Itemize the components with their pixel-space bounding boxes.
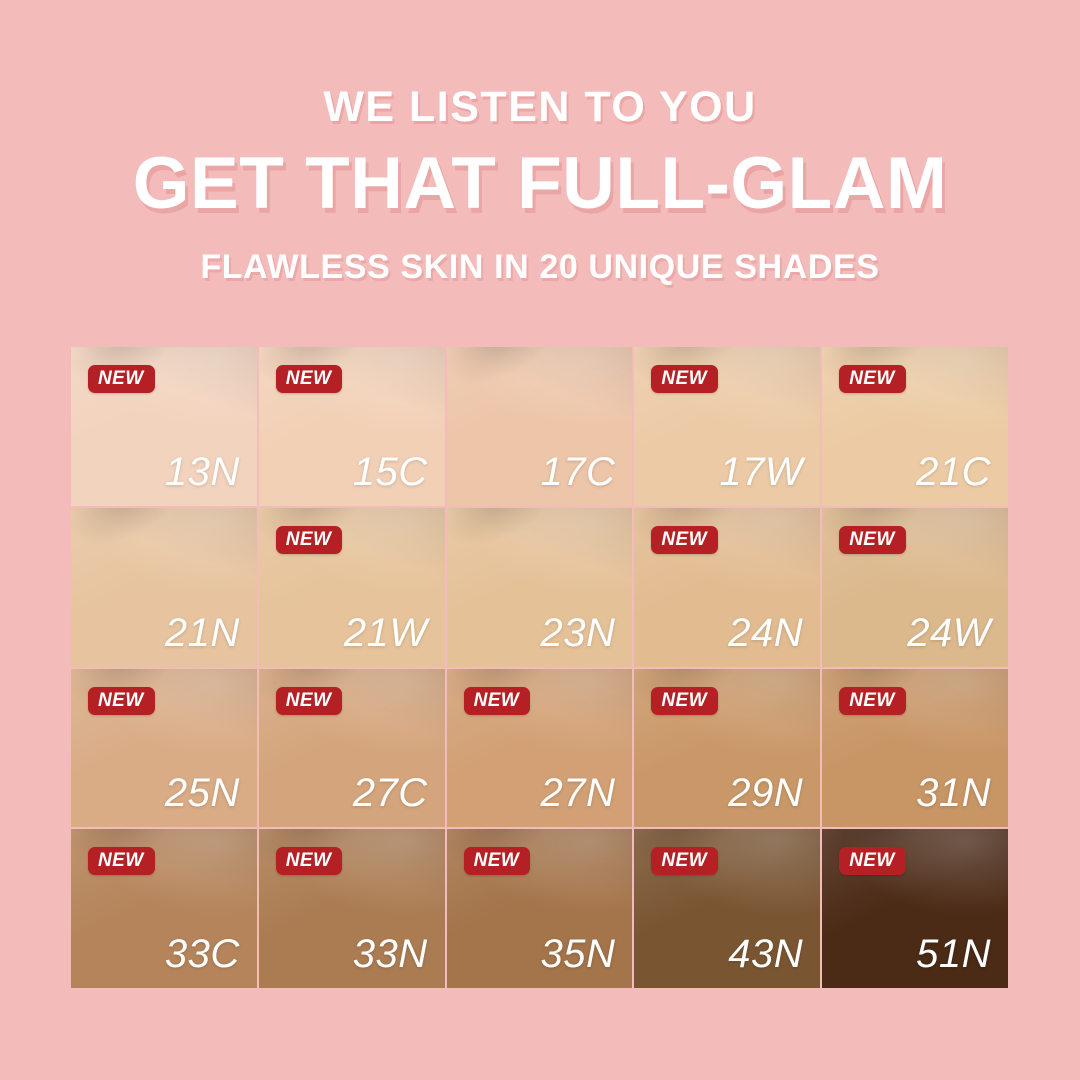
new-badge: NEW — [276, 365, 343, 393]
shade-label: 21W — [344, 613, 428, 653]
shade-swatch[interactable]: NEW24N — [634, 508, 820, 667]
shade-swatch[interactable]: NEW15C — [259, 347, 445, 506]
header: WE LISTEN TO YOU GET THAT FULL-GLAM FLAW… — [0, 86, 1080, 284]
subtitle-text: FLAWLESS SKIN IN 20 UNIQUE SHADES — [0, 250, 1080, 284]
shade-swatch[interactable]: NEW13N — [71, 347, 257, 506]
shade-swatch[interactable]: NEW33C — [71, 829, 257, 988]
shade-label: 17W — [719, 452, 803, 492]
new-badge: NEW — [464, 847, 531, 875]
new-badge: NEW — [276, 687, 343, 715]
shade-swatch[interactable]: NEW29N — [634, 669, 820, 828]
shade-label: 25N — [165, 773, 240, 813]
kicker-text: WE LISTEN TO YOU — [0, 86, 1080, 129]
shade-swatch[interactable]: NEW21W — [259, 508, 445, 667]
shade-label: 21N — [165, 613, 240, 653]
shade-swatch[interactable]: NEW35N — [447, 829, 633, 988]
page-title: GET THAT FULL-GLAM — [0, 145, 1080, 224]
shade-grid: NEW13NNEW15CNEW17CNEW17WNEW21CNEW21NNEW2… — [71, 347, 1008, 988]
new-badge: NEW — [464, 687, 531, 715]
shade-label: 27C — [353, 773, 428, 813]
new-badge: NEW — [651, 687, 718, 715]
shade-label: 17C — [541, 452, 616, 492]
shade-swatch[interactable]: NEW23N — [447, 508, 633, 667]
shade-swatch[interactable]: NEW33N — [259, 829, 445, 988]
shade-swatch[interactable]: NEW43N — [634, 829, 820, 988]
shade-swatch[interactable]: NEW25N — [71, 669, 257, 828]
shade-label: 21C — [916, 452, 991, 492]
new-badge: NEW — [839, 365, 906, 393]
shade-swatch[interactable]: NEW31N — [822, 669, 1008, 828]
shade-swatch[interactable]: NEW21C — [822, 347, 1008, 506]
new-badge: NEW — [839, 847, 906, 875]
shade-label: 33N — [353, 934, 428, 974]
shade-label: 29N — [728, 773, 803, 813]
shade-label: 23N — [541, 613, 616, 653]
shade-label: 31N — [916, 773, 991, 813]
shade-swatch[interactable]: NEW17W — [634, 347, 820, 506]
shade-swatch[interactable]: NEW17C — [447, 347, 633, 506]
shade-swatch[interactable]: NEW27C — [259, 669, 445, 828]
new-badge: NEW — [276, 847, 343, 875]
shade-label: 35N — [541, 934, 616, 974]
shade-label: 43N — [728, 934, 803, 974]
new-badge: NEW — [839, 687, 906, 715]
new-badge: NEW — [651, 526, 718, 554]
shade-label: 51N — [916, 934, 991, 974]
new-badge: NEW — [276, 526, 343, 554]
new-badge: NEW — [651, 847, 718, 875]
new-badge: NEW — [651, 365, 718, 393]
shade-swatch[interactable]: NEW51N — [822, 829, 1008, 988]
shade-label: 15C — [353, 452, 428, 492]
new-badge: NEW — [839, 526, 906, 554]
shade-swatch[interactable]: NEW24W — [822, 508, 1008, 667]
new-badge: NEW — [88, 365, 155, 393]
shade-label: 24N — [728, 613, 803, 653]
new-badge: NEW — [88, 847, 155, 875]
shade-label: 13N — [165, 452, 240, 492]
shade-label: 33C — [165, 934, 240, 974]
shade-swatch[interactable]: NEW21N — [71, 508, 257, 667]
new-badge: NEW — [88, 687, 155, 715]
shade-label: 24W — [907, 613, 991, 653]
shade-label: 27N — [541, 773, 616, 813]
shade-swatch[interactable]: NEW27N — [447, 669, 633, 828]
